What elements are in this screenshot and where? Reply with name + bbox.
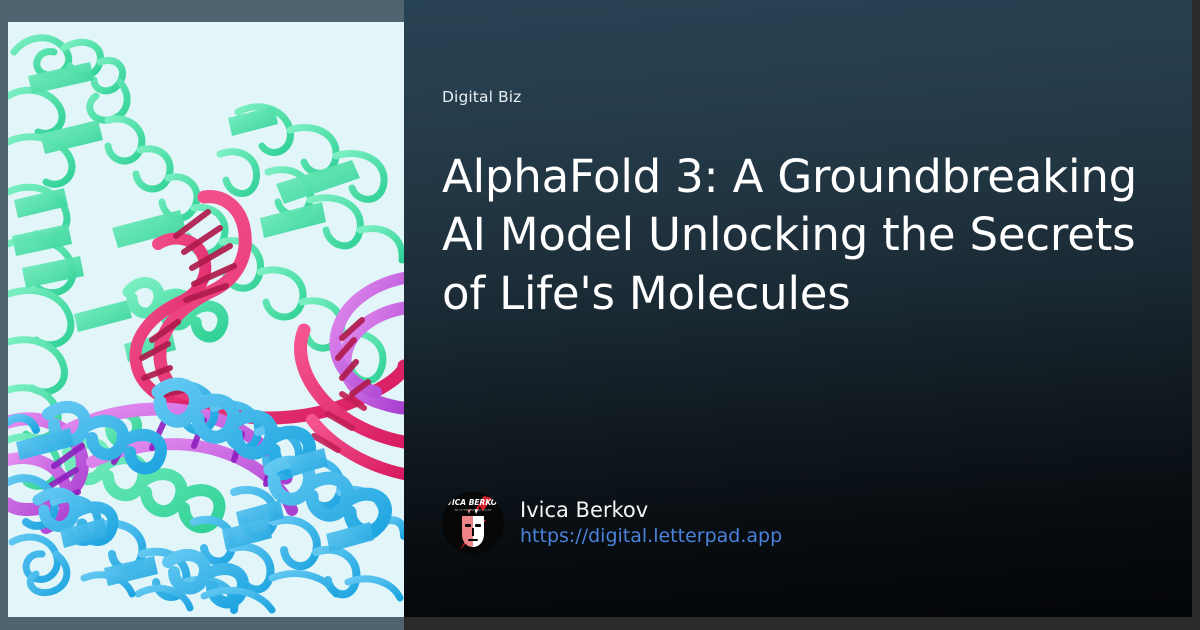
- content-panel: Digital Biz AlphaFold 3: A Groundbreakin…: [404, 0, 1200, 630]
- spacer: [442, 323, 1162, 492]
- author-block: IVICA BERKOV BE DIFFERENT . BE SHARP Ivi…: [442, 492, 1162, 554]
- author-site-link[interactable]: https://digital.letterpad.app: [520, 527, 782, 546]
- share-card: Digital Biz AlphaFold 3: A Groundbreakin…: [0, 0, 1200, 630]
- category-label: Digital Biz: [442, 90, 1162, 106]
- molecular-structure-illustration: [8, 22, 404, 617]
- page-title: AlphaFold 3: A Groundbreaking AI Model U…: [442, 148, 1162, 324]
- author-meta: Ivica Berkov https://digital.letterpad.a…: [520, 500, 782, 546]
- avatar-wordmark: IVICA BERKOV: [443, 498, 503, 507]
- avatar-tagline: BE DIFFERENT . BE SHARP: [455, 508, 492, 512]
- hero-image: [8, 22, 404, 617]
- author-name: Ivica Berkov: [520, 500, 782, 521]
- hero-image-panel: [0, 0, 404, 630]
- avatar: IVICA BERKOV BE DIFFERENT . BE SHARP: [442, 492, 504, 554]
